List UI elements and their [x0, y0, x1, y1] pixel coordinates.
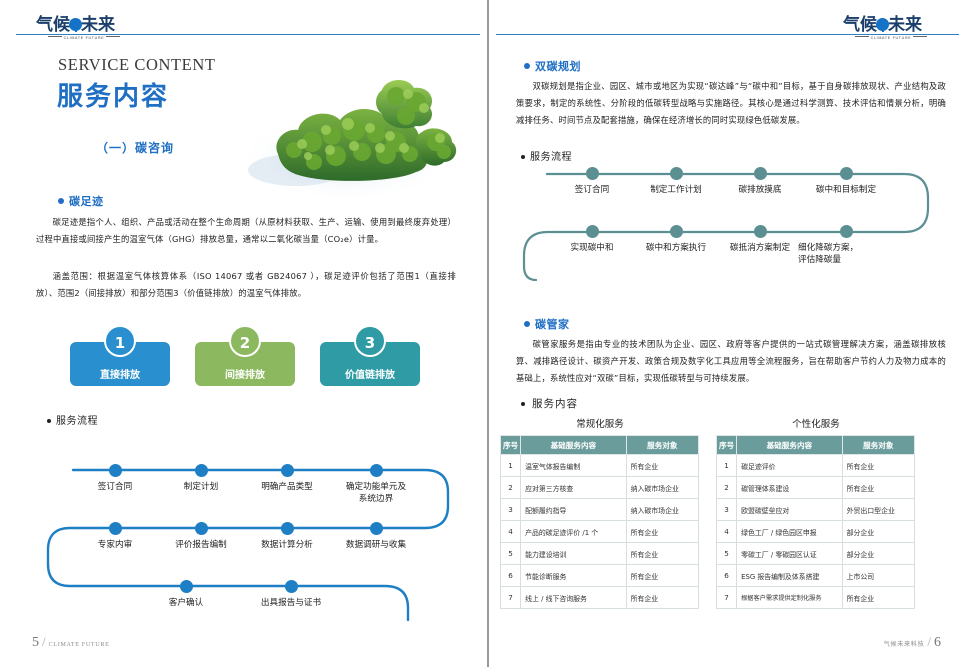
paragraph-dual-carbon-plan: 双碳规划是指企业、园区、城市或地区为实现“碳达峰”与“碳中和”目标，基于自身碳排…: [516, 78, 946, 129]
footer-page-number: 6: [934, 635, 941, 650]
brand-logo-subtext: CLIMATE FUTURE: [843, 36, 939, 40]
cell-target: 所有企业: [626, 543, 698, 565]
cell-content: 配额履约指导: [521, 499, 627, 521]
flow-node-dot: [586, 167, 599, 180]
table-standard-services: 序号 基础服务内容 服务对象 1温室气体报告编制所有企业 2应对第三方核查纳入碳…: [500, 435, 699, 609]
flow-node-dot: [840, 167, 853, 180]
brochure-spread: 气候未来 CLIMATE FUTURE SERVICE CONTENT 服务内容…: [0, 0, 975, 667]
flow-label-r1c3: 碳排放摸底: [712, 184, 808, 196]
cell-content: ESG 报告编制及体系搭建: [737, 565, 843, 587]
flow-label-r1c4: 碳中和目标制定: [798, 184, 894, 196]
cell-content: 线上 / 线下咨询服务: [521, 587, 627, 609]
brand-logo-text: 气候未来: [843, 16, 939, 35]
cell-target: 所有企业: [626, 565, 698, 587]
flow-label-r3c2: 出具报告与证书: [243, 597, 339, 609]
section-heading-service-content: 服务内容: [521, 396, 578, 411]
table-row: 1温室气体报告编制所有企业: [501, 455, 699, 477]
paragraph-carbon-steward: 碳管家服务是指由专业的技术团队为企业、园区、政府等客户提供的一站式碳管理解决方案…: [516, 336, 946, 387]
flow-node-dot: [370, 464, 383, 477]
section-heading-carbon-footprint: 碳足迹: [58, 193, 104, 209]
section-heading-dual-carbon-plan: 双碳规划: [524, 58, 581, 74]
cell-target: 纳入碳市场企业: [626, 499, 698, 521]
bullet-icon: [521, 402, 525, 406]
th-index: 序号: [717, 436, 737, 455]
brand-logo-left: 气候未来 CLIMATE FUTURE: [36, 16, 132, 46]
page-title-en: SERVICE CONTENT: [58, 55, 216, 75]
cell-index: 6: [717, 565, 737, 587]
flow-label-r1c3: 明确产品类型: [239, 481, 335, 493]
cell-content: 产品的碳足迹评价 /1 个: [521, 521, 627, 543]
table-row: 2应对第三方核查纳入碳市场企业: [501, 477, 699, 499]
flow-label-r3c1: 客户确认: [138, 597, 234, 609]
cell-target: 所有企业: [626, 587, 698, 609]
cell-index: 7: [717, 587, 737, 609]
th-index: 序号: [501, 436, 521, 455]
cell-target: 部分企业: [842, 521, 914, 543]
flow-node-dot: [670, 225, 683, 238]
paragraph-carbon-footprint-1: 碳足迹是指个人、组织、产品或活动在整个生命周期（从原材料获取、生产、运输、使用到…: [36, 214, 456, 248]
cell-content: 能力建设培训: [521, 543, 627, 565]
flow-node-dot: [195, 464, 208, 477]
bullet-icon: [524, 321, 530, 327]
table-row: 2碳管理体系建设所有企业: [717, 477, 915, 499]
emission-scope-cards: 1 直接排放 2 间接排放 3 价值链排放: [70, 330, 420, 392]
scope-card-1-label: 直接排放: [100, 370, 140, 381]
table-row: 7线上 / 线下咨询服务所有企业: [501, 587, 699, 609]
flow-node-dot: [754, 225, 767, 238]
table-row: 4产品的碳足迹评价 /1 个所有企业: [501, 521, 699, 543]
th-target: 服务对象: [626, 436, 698, 455]
table-custom-services: 序号 基础服务内容 服务对象 1碳足迹评价所有企业 2碳管理体系建设所有企业 3…: [716, 435, 915, 609]
cell-target: 部分企业: [842, 543, 914, 565]
cell-content: 温室气体报告编制: [521, 455, 627, 477]
scope-card-2-badge: 2: [229, 325, 261, 357]
flow-node-dot: [180, 580, 193, 593]
flow-node-dot: [281, 464, 294, 477]
forest-illustration: [236, 50, 466, 210]
scope-card-2-label: 间接排放: [225, 370, 265, 381]
footer-left: 5/CLIMATE FUTURE: [32, 633, 109, 651]
table-row: 3配额履约指导纳入碳市场企业: [501, 499, 699, 521]
table-row: 3欧盟碳壁垒应对外贸出口型企业: [717, 499, 915, 521]
leaf-icon: [69, 18, 82, 31]
scope-card-3-badge: 3: [354, 325, 386, 357]
scope-card-1-badge: 1: [104, 325, 136, 357]
cell-content: 应对第三方核查: [521, 477, 627, 499]
cell-index: 2: [501, 477, 521, 499]
cell-index: 2: [717, 477, 737, 499]
cell-index: 5: [717, 543, 737, 565]
table-row: 6节能诊断服务所有企业: [501, 565, 699, 587]
flow-label-r2c2: 碳中和方案执行: [628, 242, 724, 254]
right-page: 气候未来 CLIMATE FUTURE 双碳规划 双碳规划是指企业、园区、城市或…: [488, 0, 975, 667]
cell-index: 1: [717, 455, 737, 477]
flow-label-r2c1: 专家内审: [67, 539, 163, 551]
bullet-icon: [58, 198, 64, 204]
cell-target: 纳入碳市场企业: [626, 477, 698, 499]
left-page: 气候未来 CLIMATE FUTURE SERVICE CONTENT 服务内容…: [0, 0, 488, 667]
footer-right: 气候未来科技/6: [884, 633, 941, 651]
th-content: 基础服务内容: [737, 436, 843, 455]
flow-node-dot: [109, 464, 122, 477]
cell-index: 5: [501, 543, 521, 565]
footer-page-number: 5: [32, 635, 39, 650]
section-heading-service-flow-left: 服务流程: [47, 412, 98, 427]
cell-target: 所有企业: [626, 521, 698, 543]
service-flow-diagram-left: 签订合同 制定计划 明确产品类型 确定功能单元及 系统边界 专家内审 评价报告编…: [40, 430, 460, 630]
flow-label-r2c4: 细化降碳方案， 评估降碳量: [798, 242, 894, 266]
footer-brand-name: 气候未来科技: [884, 641, 925, 648]
cell-content: 碳足迹评价: [737, 455, 843, 477]
flow-label-r1c2: 制定工作计划: [628, 184, 724, 196]
table-row: 6ESG 报告编制及体系搭建上市公司: [717, 565, 915, 587]
flow-label-r1c2: 制定计划: [153, 481, 249, 493]
page-title-zh: 服务内容: [57, 76, 169, 113]
brand-logo-text: 气候未来: [36, 16, 132, 35]
th-target: 服务对象: [842, 436, 914, 455]
footer-slash: /: [42, 634, 46, 649]
cell-content: 欧盟碳壁垒应对: [737, 499, 843, 521]
table-caption-custom: 个性化服务: [716, 416, 916, 430]
table-header-row: 序号 基础服务内容 服务对象: [717, 436, 915, 455]
cell-target: 上市公司: [842, 565, 914, 587]
flow-label-r1c1: 签订合同: [544, 184, 640, 196]
cell-index: 3: [717, 499, 737, 521]
leaf-icon: [876, 18, 889, 31]
table-row: 1碳足迹评价所有企业: [717, 455, 915, 477]
cell-index: 6: [501, 565, 521, 587]
scope-card-3[interactable]: 3 价值链排放: [320, 342, 420, 386]
bullet-icon: [47, 419, 51, 423]
scope-card-1[interactable]: 1 直接排放: [70, 342, 170, 386]
flow-node-dot: [840, 225, 853, 238]
cell-index: 7: [501, 587, 521, 609]
flow-label-r1c4: 确定功能单元及 系统边界: [328, 481, 424, 505]
cell-content: 碳管理体系建设: [737, 477, 843, 499]
flow-label-r2c4: 数据调研与收集: [328, 539, 424, 551]
flow-label-r2c3: 碳抵消方案制定: [712, 242, 808, 254]
table-row: 7根据客户需求提供定制化服务所有企业: [717, 587, 915, 609]
table-header-row: 序号 基础服务内容 服务对象: [501, 436, 699, 455]
table-row: 5零碳工厂 / 零碳园区认证部分企业: [717, 543, 915, 565]
brand-logo-subtext: CLIMATE FUTURE: [36, 36, 132, 40]
section-heading-carbon-steward: 碳管家: [524, 316, 570, 332]
th-content: 基础服务内容: [521, 436, 627, 455]
cell-target: 所有企业: [842, 587, 914, 609]
scope-card-3-label: 价值链排放: [345, 370, 395, 381]
table-row: 5能力建设培训所有企业: [501, 543, 699, 565]
table-row: 4绿色工厂 / 绿色园区申报部分企业: [717, 521, 915, 543]
flow-node-dot: [670, 167, 683, 180]
service-flow-diagram-right: 签订合同 制定工作计划 碳排放摸底 碳中和目标制定 实现碳中和 碳中和方案执行 …: [514, 162, 944, 282]
scope-card-2[interactable]: 2 间接排放: [195, 342, 295, 386]
flow-node-dot: [195, 522, 208, 535]
paragraph-carbon-footprint-2: 涵盖范围：根据温室气体核算体系（ISO 14067 或者 GB24067 ），碳…: [36, 268, 456, 302]
bullet-icon: [524, 63, 530, 69]
flow-label-r2c3: 数据计算分析: [239, 539, 335, 551]
section-heading-service-flow-right: 服务流程: [521, 148, 572, 163]
flow-node-dot: [109, 522, 122, 535]
cell-index: 4: [501, 521, 521, 543]
cell-index: 4: [717, 521, 737, 543]
cell-content: 零碳工厂 / 零碳园区认证: [737, 543, 843, 565]
footer-brand-name: CLIMATE FUTURE: [49, 641, 110, 648]
cell-index: 1: [501, 455, 521, 477]
cell-index: 3: [501, 499, 521, 521]
bullet-icon: [521, 155, 525, 159]
flow-label-r2c1: 实现碳中和: [544, 242, 640, 254]
table-caption-standard: 常规化服务: [500, 416, 700, 430]
cell-content: 节能诊断服务: [521, 565, 627, 587]
flow-label-r1c1: 签订合同: [67, 481, 163, 493]
flow-label-r2c2: 评价报告编制: [153, 539, 249, 551]
cell-target: 外贸出口型企业: [842, 499, 914, 521]
flow-node-dot: [370, 522, 383, 535]
brand-logo-right: 气候未来 CLIMATE FUTURE: [843, 16, 939, 46]
cell-target: 所有企业: [842, 477, 914, 499]
flow-node-dot: [586, 225, 599, 238]
cell-target: 所有企业: [626, 455, 698, 477]
flow-node-dot: [754, 167, 767, 180]
section-subtitle: （一）碳咨询: [96, 139, 174, 156]
cell-target: 所有企业: [842, 455, 914, 477]
page-gutter: [487, 0, 489, 667]
flow-node-dot: [281, 522, 294, 535]
cell-content: 根据客户需求提供定制化服务: [737, 587, 843, 609]
flow-node-dot: [285, 580, 298, 593]
footer-slash: /: [927, 634, 931, 649]
cell-content: 绿色工厂 / 绿色园区申报: [737, 521, 843, 543]
